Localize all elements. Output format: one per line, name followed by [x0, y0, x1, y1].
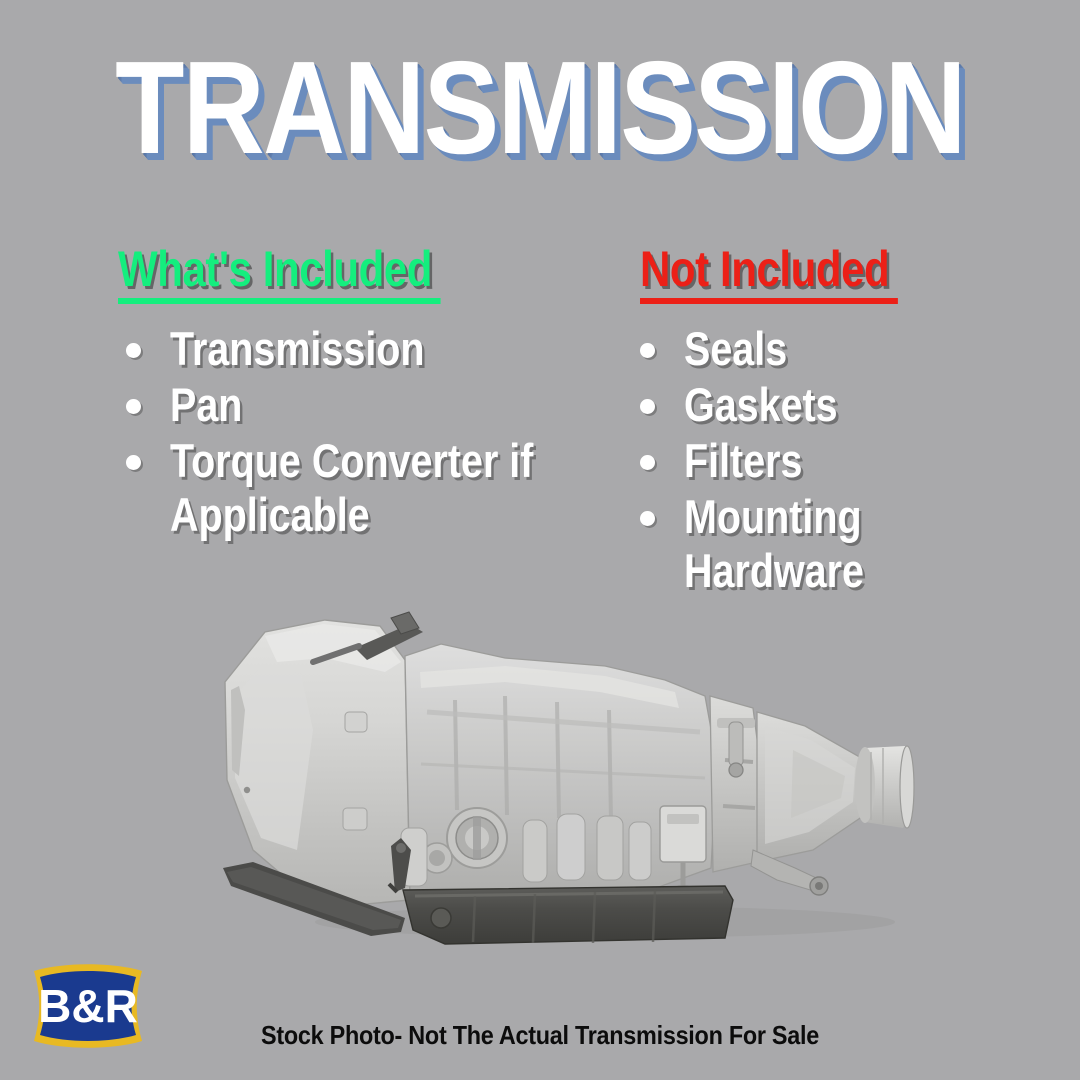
list-item: Seals	[632, 322, 962, 376]
list-item-label: Seals	[684, 322, 962, 376]
included-list: Transmission Pan Torque Converter if App…	[118, 322, 588, 544]
list-item-label: Transmission	[170, 322, 588, 376]
transmission-photo	[205, 600, 920, 945]
list-item: Filters	[632, 434, 962, 488]
list-item: Torque Converter if Applicable	[118, 434, 588, 542]
column-heading-included-label: What's Included	[118, 243, 440, 304]
list-item-label: Torque Converter if Applicable	[170, 434, 588, 542]
list-item: Pan	[118, 378, 588, 432]
list-item: Mounting Hardware	[632, 490, 962, 598]
product-graphic-canvas: TRANSMISSION What's Included Not Include…	[0, 0, 1080, 1080]
list-item-label: Filters	[684, 434, 962, 488]
page-title: TRANSMISSION	[76, 42, 1005, 174]
not-included-list: Seals Gaskets Filters Mounting Hardware	[632, 322, 962, 600]
list-item-label: Gaskets	[684, 378, 962, 432]
footer-disclaimer: Stock Photo- Not The Actual Transmission…	[0, 1020, 1080, 1050]
column-heading-not-included-label: Not Included	[640, 243, 898, 304]
list-item-label: Mounting Hardware	[684, 490, 962, 598]
footer-disclaimer-text: Stock Photo- Not The Actual Transmission…	[261, 1020, 819, 1050]
column-heading-included: What's Included	[118, 243, 440, 309]
list-item-label: Pan	[170, 378, 588, 432]
column-heading-not-included: Not Included	[640, 243, 898, 309]
list-item: Transmission	[118, 322, 588, 376]
list-item: Gaskets	[632, 378, 962, 432]
transmission-illustration	[205, 600, 920, 945]
